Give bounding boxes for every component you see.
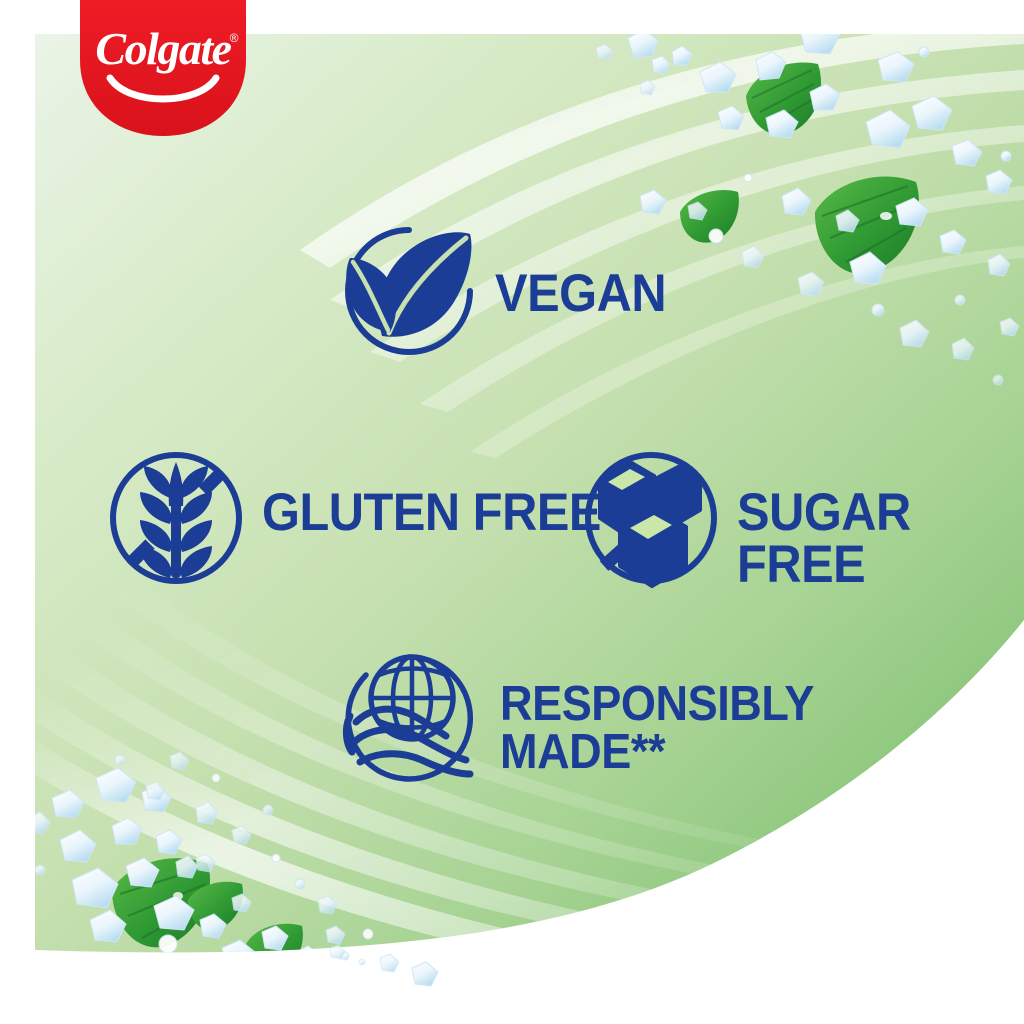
colgate-wordmark: Colgate: [95, 23, 231, 74]
ice-crystal-cluster-edge: [330, 945, 438, 986]
badge-label-sugar-free: SUGAR FREE: [737, 487, 1001, 591]
badge-label-gluten-free: GLUTEN FREE: [262, 487, 601, 539]
registered-mark: ®: [230, 31, 239, 45]
badge-label-responsibly-made: RESPONSIBLY MADE**: [500, 680, 814, 776]
product-feature-panel: Colgate ®: [0, 0, 1024, 1024]
colgate-logo[interactable]: Colgate ®: [80, 0, 246, 136]
badge-label-vegan: VEGAN: [495, 268, 666, 320]
